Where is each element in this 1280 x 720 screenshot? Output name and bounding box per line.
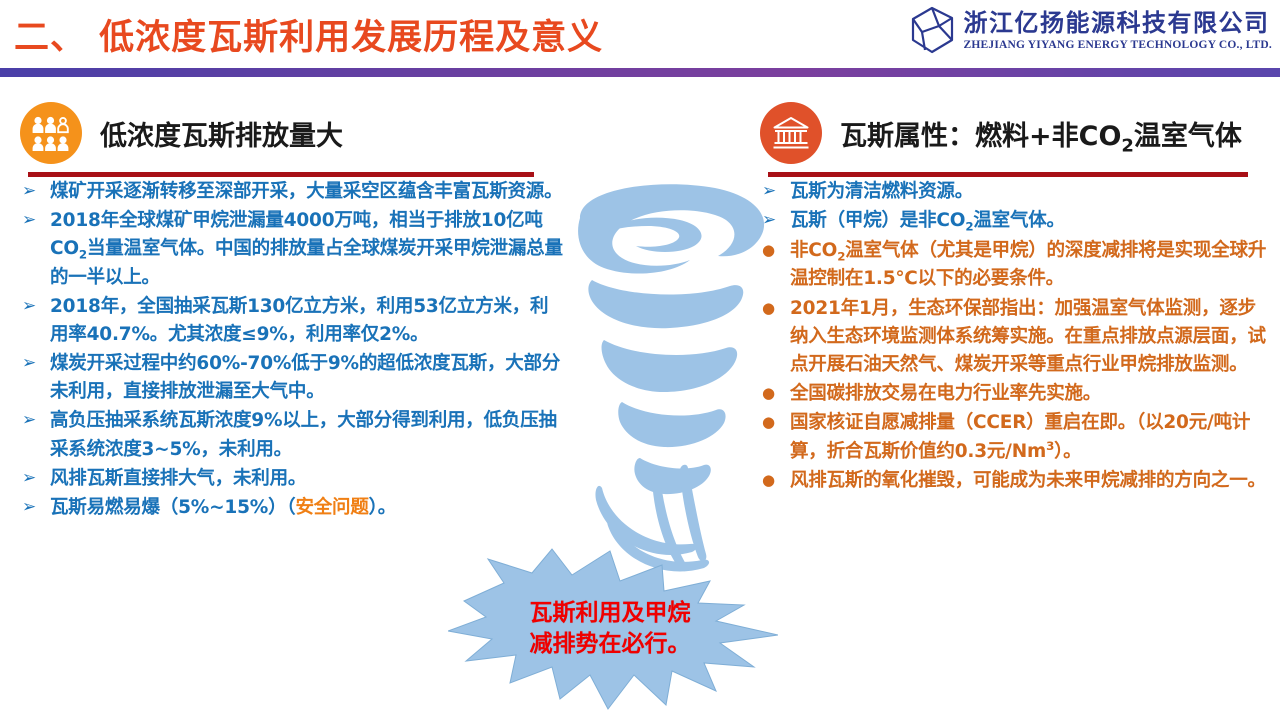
left-section-title: 低浓度瓦斯排放量大 <box>100 114 343 153</box>
logo-text-block: 浙江亿扬能源科技有限公司 ZHEJIANG YIYANG ENERGY TECH… <box>963 11 1272 52</box>
tornado-swirl-graphic <box>540 176 790 596</box>
list-item-text: 煤矿开采逐渐转移至深部开采，大量采空区蕴含丰富瓦斯资源。 <box>50 181 562 202</box>
list-item-text: 全国碳排放交易在电力行业率先实施。 <box>790 383 1101 404</box>
list-item-text: 2018年全球煤矿甲烷泄漏量4000万吨，相当于排放10亿吨CO2当量温室气体。… <box>50 210 563 288</box>
list-item-text: 高负压抽采系统瓦斯浓度9%以上，大部分得到利用，低负压抽采系统浓度3~5%，未利… <box>50 410 557 459</box>
slide-header: 二、 低浓度瓦斯利用发展历程及意义 浙江亿扬能源科技有限公司 ZHEJIANG … <box>0 0 1280 68</box>
right-section-header: 瓦斯属性：燃料+非CO2温室气体 <box>748 100 1272 178</box>
arrow-bullet-icon: ➢ <box>22 495 36 521</box>
callout-text: 瓦斯利用及甲烷 减排势在必行。 <box>470 598 750 661</box>
arrow-bullet-icon: ➢ <box>22 208 36 234</box>
header-divider-bar <box>0 68 1280 77</box>
right-section-underline <box>768 172 1248 177</box>
left-bullet-list: ➢ 煤矿开采逐渐转移至深部开采，大量采空区蕴含丰富瓦斯资源。 ➢ 2018年全球… <box>8 178 564 522</box>
arrow-bullet-icon: ➢ <box>22 294 36 320</box>
list-item-text: 煤炭开采过程中约60%-70%低于9%的超低浓度瓦斯，大部分未利用，直接排放泄漏… <box>50 353 560 402</box>
arrow-bullet-icon: ➢ <box>22 351 36 377</box>
list-item: ● 全国碳排放交易在电力行业率先实施。 <box>748 380 1272 408</box>
left-column: 低浓度瓦斯排放量大 ➢ 煤矿开采逐渐转移至深部开采，大量采空区蕴含丰富瓦斯资源。… <box>8 100 564 523</box>
list-item: ● 风排瓦斯的氧化摧毁，可能成为未来甲烷减排的方向之一。 <box>748 467 1272 495</box>
list-item-text: 瓦斯易燃易爆（5%~15%）（安全问题）。 <box>50 497 396 518</box>
list-item: ➢ 2018年全球煤矿甲烷泄漏量4000万吨，相当于排放10亿吨CO2当量温室气… <box>8 207 564 292</box>
logo-company-cn: 浙江亿扬能源科技有限公司 <box>963 11 1272 35</box>
list-item: ● 国家核证自愿减排量（CCER）重启在即。（以20元/吨计算，折合瓦斯价值约0… <box>748 409 1272 466</box>
list-item: ➢ 瓦斯（甲烷）是非CO2温室气体。 <box>748 207 1272 236</box>
list-item: ● 非CO2温室气体（尤其是甲烷）的深度减排将是实现全球升温控制在1.5℃以下的… <box>748 237 1272 294</box>
hexagon-cube-logo-icon <box>909 6 955 56</box>
list-item-text: 2021年1月，生态环保部指出：加强温室气体监测，逐步纳入生态环境监测体系统筹实… <box>790 298 1266 375</box>
list-item: ● 2021年1月，生态环保部指出：加强温室气体监测，逐步纳入生态环境监测体系统… <box>748 295 1272 379</box>
list-item: ➢ 2018年，全国抽采瓦斯130亿立方米，利用53亿立方米，利用率40.7%。… <box>8 293 564 349</box>
people-group-icon <box>20 102 82 164</box>
list-item: ➢ 高负压抽采系统瓦斯浓度9%以上，大部分得到利用，低负压抽采系统浓度3~5%，… <box>8 407 564 463</box>
left-section-underline <box>28 172 534 177</box>
right-column: 瓦斯属性：燃料+非CO2温室气体 ➢ 瓦斯为清洁燃料资源。 ➢ 瓦斯（甲烷）是非… <box>748 100 1272 497</box>
page-title: 二、 低浓度瓦斯利用发展历程及意义 <box>14 9 603 60</box>
list-item-text: 风排瓦斯直接排大气，未利用。 <box>50 468 306 489</box>
list-item: ➢ 瓦斯易燃易爆（5%~15%）（安全问题）。 <box>8 494 564 522</box>
list-item-text: 瓦斯为清洁燃料资源。 <box>790 181 973 202</box>
arrow-bullet-icon: ➢ <box>22 408 36 434</box>
right-bullet-list: ➢ 瓦斯为清洁燃料资源。 ➢ 瓦斯（甲烷）是非CO2温室气体。 ● 非CO2温室… <box>748 178 1272 496</box>
callout-line-2: 减排势在必行。 <box>470 629 750 660</box>
slide-root: 二、 低浓度瓦斯利用发展历程及意义 浙江亿扬能源科技有限公司 ZHEJIANG … <box>0 0 1280 720</box>
logo-company-en: ZHEJIANG YIYANG ENERGY TECHNOLOGY CO., L… <box>963 40 1272 52</box>
list-item-text: 风排瓦斯的氧化摧毁，可能成为未来甲烷减排的方向之一。 <box>790 470 1266 491</box>
arrow-bullet-icon: ➢ <box>22 179 36 205</box>
arrow-bullet-icon: ➢ <box>22 466 36 492</box>
list-item-text: 国家核证自愿减排量（CCER）重启在即。（以20元/吨计算，折合瓦斯价值约0.3… <box>790 412 1250 462</box>
list-item-text: 2018年，全国抽采瓦斯130亿立方米，利用53亿立方米，利用率40.7%。尤其… <box>50 296 548 345</box>
list-item-text: 瓦斯（甲烷）是非CO2温室气体。 <box>790 210 1065 231</box>
company-logo: 浙江亿扬能源科技有限公司 ZHEJIANG YIYANG ENERGY TECH… <box>909 6 1272 56</box>
safety-highlight: 安全问题 <box>295 497 368 518</box>
left-section-header: 低浓度瓦斯排放量大 <box>8 100 564 178</box>
list-item: ➢ 瓦斯为清洁燃料资源。 <box>748 178 1272 206</box>
list-item: ➢ 煤矿开采逐渐转移至深部开采，大量采空区蕴含丰富瓦斯资源。 <box>8 178 564 206</box>
list-item-text: 非CO2温室气体（尤其是甲烷）的深度减排将是实现全球升温控制在1.5℃以下的必要… <box>790 240 1266 290</box>
callout-line-1: 瓦斯利用及甲烷 <box>470 598 750 629</box>
list-item: ➢ 煤炭开采过程中约60%-70%低于9%的超低浓度瓦斯，大部分未利用，直接排放… <box>8 350 564 406</box>
bank-building-icon <box>760 102 822 164</box>
right-section-title: 瓦斯属性：燃料+非CO2温室气体 <box>840 114 1242 156</box>
list-item: ➢ 风排瓦斯直接排大气，未利用。 <box>8 465 564 493</box>
